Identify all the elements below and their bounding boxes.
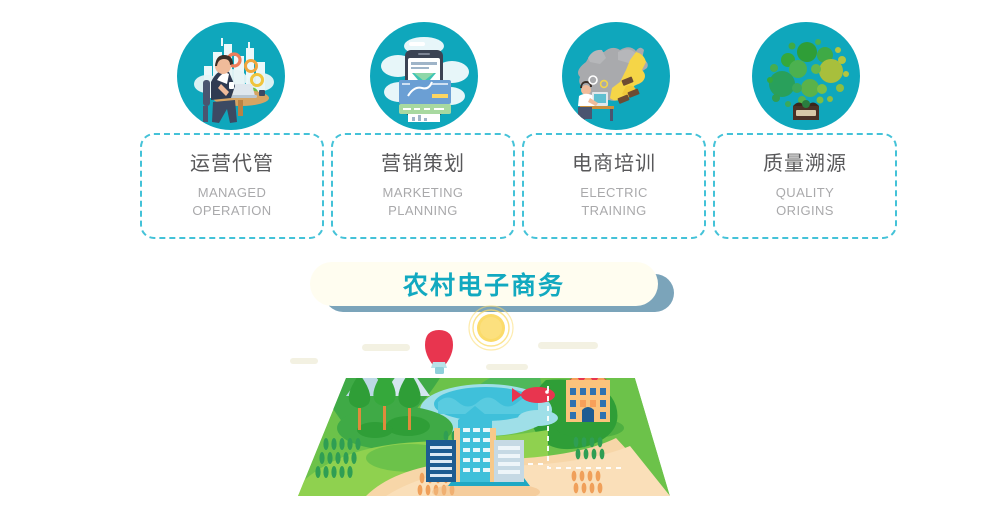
feature-card-subtitle-line1: QUALITY — [776, 184, 834, 202]
china-map-training-icon — [562, 22, 670, 130]
svg-text:H: H — [584, 360, 590, 369]
feature-card-title: 电商培训 — [572, 153, 656, 175]
feature-card-subtitle: QUALITY ORIGINS — [776, 184, 834, 219]
infographic-canvas: 运营代管 MANAGED OPERATION 营销策划 MARKETING PL… — [0, 0, 1000, 500]
feature-card-title: 质量溯源 — [763, 153, 847, 175]
feature-card-subtitle-line2: TRAINING — [580, 202, 648, 220]
feature-card-subtitle-line1: ELECTRIC — [580, 184, 648, 202]
businessman-at-desk-icon — [177, 22, 285, 130]
feature-card-electric-training[interactable]: 电商培训 ELECTRIC TRAINING — [522, 133, 706, 239]
feature-card-subtitle: MARKETING PLANNING — [383, 184, 464, 219]
feature-card-subtitle-line1: MANAGED — [192, 184, 271, 202]
smartphone-analytics-icon — [370, 22, 478, 130]
hot-air-balloon-icon — [425, 330, 453, 374]
feature-card-subtitle-line2: ORIGINS — [776, 202, 834, 220]
bubble-tree-quality-icon — [752, 22, 860, 130]
feature-card-subtitle: ELECTRIC TRAINING — [580, 184, 648, 219]
feature-card-subtitle: MANAGED OPERATION — [192, 184, 271, 219]
feature-card-subtitle-line1: MARKETING — [383, 184, 464, 202]
feature-card-managed-operation[interactable]: 运营代管 MANAGED OPERATION — [140, 133, 324, 239]
tree-icon — [349, 370, 421, 430]
feature-card-subtitle-line2: PLANNING — [383, 202, 464, 220]
feature-card-marketing-planning[interactable]: 营销策划 MARKETING PLANNING — [331, 133, 515, 239]
sun-icon — [469, 306, 513, 350]
feature-card-title: 营销策划 — [381, 153, 465, 175]
feature-card-subtitle-line2: OPERATION — [192, 202, 271, 220]
feature-card-title: 运营代管 — [190, 153, 274, 175]
rural-landscape-illustration: H — [290, 300, 690, 500]
banner-title: 农村电子商务 — [403, 266, 565, 302]
feature-card-quality-origins[interactable]: 质量溯源 QUALITY ORIGINS — [713, 133, 897, 239]
